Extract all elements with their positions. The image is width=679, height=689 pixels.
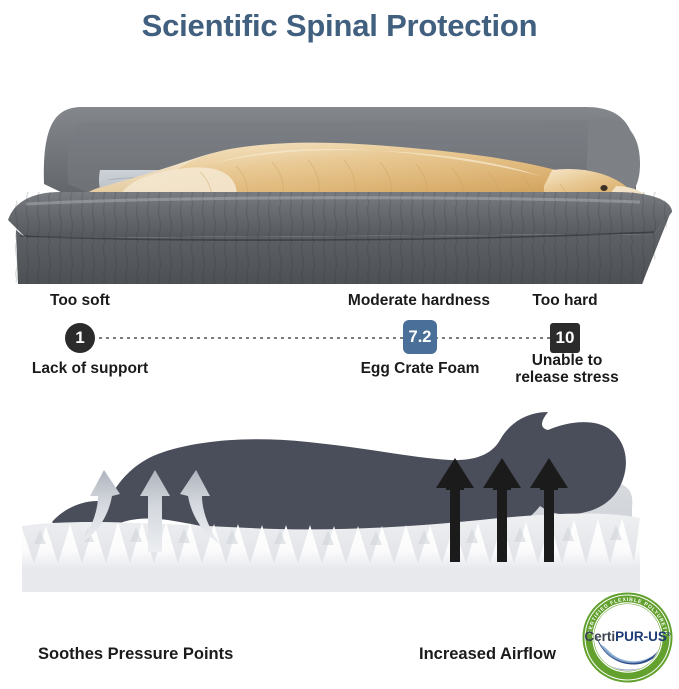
- caption-increased-airflow: Increased Airflow: [419, 645, 556, 664]
- scale-track: [92, 337, 577, 339]
- caption-soothes-pressure-points: Soothes Pressure Points: [38, 645, 233, 664]
- scale-marker-1: 1: [65, 323, 95, 353]
- scale-marker-10: 10: [550, 323, 580, 353]
- certipur-us-badge: CONTAINS CERTIFIED FLEXIBLE POLYURETHANE…: [578, 588, 677, 687]
- page-title-bar: Scientific Spinal Protection: [0, 0, 679, 52]
- hardness-scale: Too soft 1 Lack of support Moderate hard…: [0, 292, 679, 394]
- product-photo: [0, 52, 679, 290]
- logo-wordmark: CertiPUR-US®: [584, 629, 671, 644]
- airflow-arrows: [436, 458, 568, 562]
- scale-label-above-10: Too hard: [455, 292, 675, 310]
- scale-label-below-1: Lack of support: [0, 360, 200, 377]
- page-title: Scientific Spinal Protection: [142, 8, 538, 44]
- scale-label-below-10: Unable to release stress: [457, 352, 677, 387]
- scale-marker-7-2: 7.2: [403, 320, 437, 354]
- dog-on-bed-illustration: [0, 52, 679, 290]
- scale-label-above-1: Too soft: [0, 292, 190, 310]
- certipur-us-logo: CONTAINS CERTIFIED FLEXIBLE POLYURETHANE…: [578, 588, 677, 687]
